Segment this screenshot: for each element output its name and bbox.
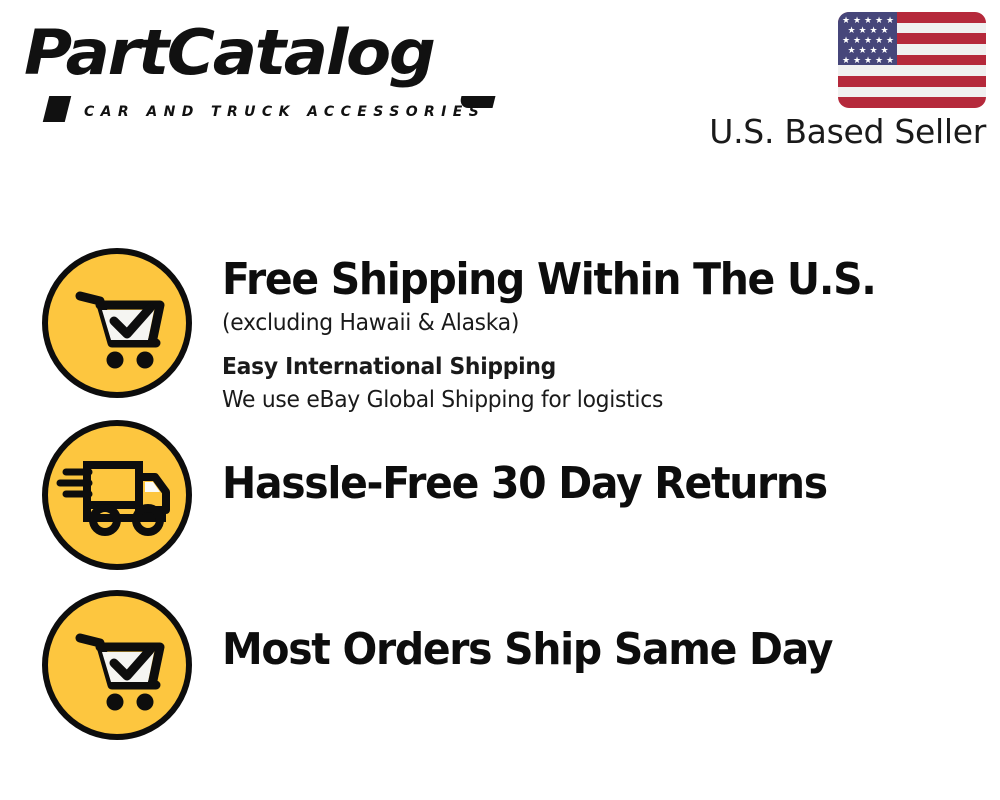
flag-star: ★ bbox=[870, 26, 878, 35]
feature-sub-note: (excluding Hawaii & Alaska) bbox=[222, 307, 944, 339]
flag-star: ★ bbox=[886, 36, 894, 45]
flag-star: ★ bbox=[881, 26, 889, 35]
feature-row: Hassle-Free 30 Day Returns bbox=[0, 412, 1000, 582]
flag-star: ★ bbox=[875, 16, 883, 25]
page-header: PartCatalog CAR AND TRUCK ACCESSORIES ★★… bbox=[0, 0, 1000, 170]
flag-star: ★ bbox=[886, 56, 894, 65]
feature-row: Free Shipping Within The U.S. (excluding… bbox=[0, 240, 1000, 415]
flag-star: ★ bbox=[864, 56, 872, 65]
flag-star: ★ bbox=[842, 56, 850, 65]
flag-stripe bbox=[838, 87, 986, 98]
logo-slab-left-decoration bbox=[43, 96, 71, 122]
flag-star: ★ bbox=[881, 46, 889, 55]
feature-heading: Most Orders Ship Same Day bbox=[222, 624, 929, 676]
flag-star: ★ bbox=[853, 36, 861, 45]
delivery-truck-icon bbox=[42, 420, 192, 570]
feature-heading: Free Shipping Within The U.S. bbox=[222, 254, 929, 306]
feature-sub-bold: Easy International Shipping bbox=[222, 351, 944, 383]
flag-star: ★ bbox=[875, 56, 883, 65]
feature-text-block: Hassle-Free 30 Day Returns bbox=[222, 458, 982, 510]
flag-star: ★ bbox=[864, 16, 872, 25]
flag-star: ★ bbox=[853, 56, 861, 65]
feature-text-block: Most Orders Ship Same Day bbox=[222, 624, 982, 676]
feature-icon-same-day bbox=[42, 590, 192, 740]
feature-icon-free-shipping bbox=[42, 248, 192, 398]
flag-star: ★ bbox=[870, 46, 878, 55]
brand-wordmark: PartCatalog bbox=[24, 18, 434, 88]
feature-icon-returns bbox=[42, 420, 192, 570]
flag-star: ★ bbox=[842, 36, 850, 45]
flag-star: ★ bbox=[859, 26, 867, 35]
flag-stripe bbox=[838, 65, 986, 76]
us-based-seller-label: U.S. Based Seller bbox=[709, 113, 986, 151]
flag-stars: ★★★★★★★★★★★★★★★★★★★★★★★ bbox=[838, 12, 897, 65]
shopping-cart-check-icon bbox=[42, 248, 192, 398]
flag-star: ★ bbox=[859, 46, 867, 55]
feature-heading: Hassle-Free 30 Day Returns bbox=[222, 458, 929, 510]
flag-star: ★ bbox=[848, 46, 856, 55]
feature-text-block: Free Shipping Within The U.S. (excluding… bbox=[222, 254, 982, 416]
flag-star: ★ bbox=[864, 36, 872, 45]
flag-stripe bbox=[838, 76, 986, 87]
flag-star: ★ bbox=[848, 26, 856, 35]
flag-star: ★ bbox=[886, 16, 894, 25]
brand-tagline: CAR AND TRUCK ACCESSORIES bbox=[84, 104, 485, 120]
flag-star: ★ bbox=[853, 16, 861, 25]
us-flag-icon: ★★★★★★★★★★★★★★★★★★★★★★★ bbox=[838, 12, 986, 108]
brand-logo: PartCatalog CAR AND TRUCK ACCESSORIES bbox=[24, 18, 494, 118]
shopping-cart-check-icon bbox=[42, 590, 192, 740]
flag-star: ★ bbox=[842, 16, 850, 25]
flag-star: ★ bbox=[875, 36, 883, 45]
feature-row: Most Orders Ship Same Day bbox=[0, 582, 1000, 752]
flag-stripe bbox=[838, 97, 986, 108]
